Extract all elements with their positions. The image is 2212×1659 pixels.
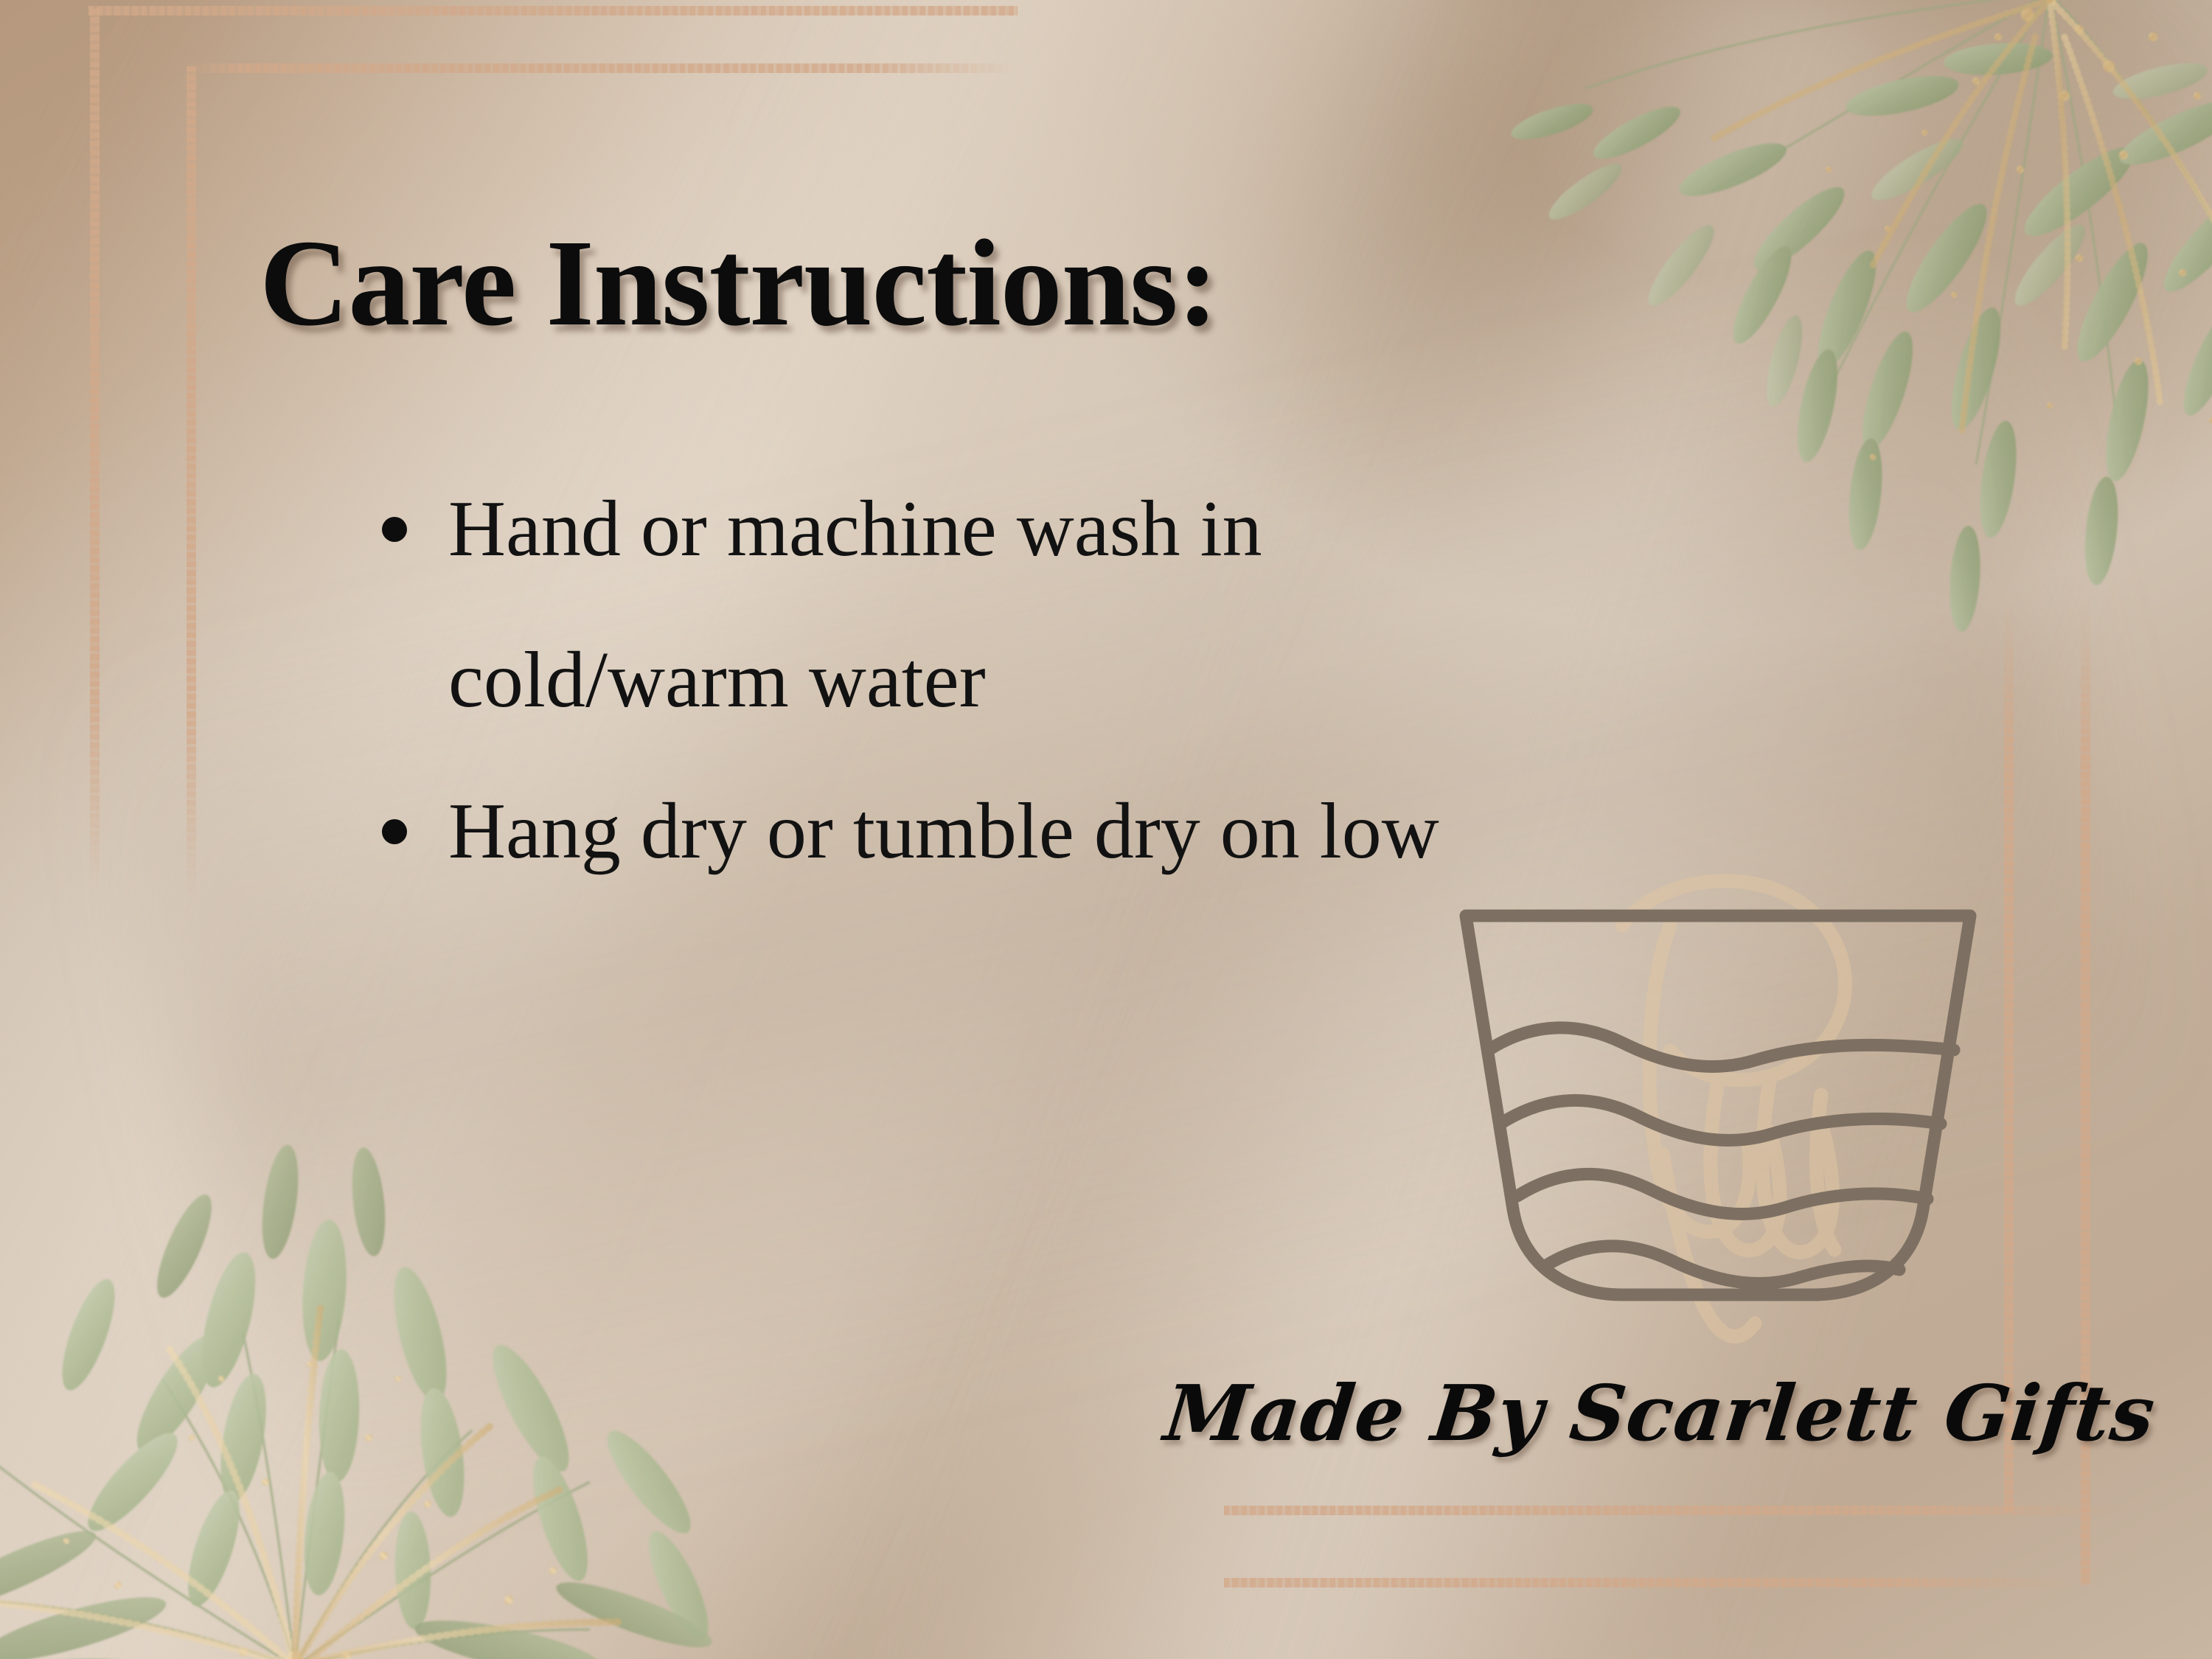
wash-basin-icon (1445, 863, 1991, 1335)
care-instructions-card: Care Instructions: Hand or machine wash … (0, 0, 2212, 1659)
page-title: Care Instructions: (260, 221, 1218, 345)
brand-logo (1445, 863, 1991, 1335)
frame-stroke-top-inner (184, 63, 1018, 73)
frame-stroke-bottom-outer (1224, 1578, 2079, 1587)
frame-stroke-left-outer (90, 9, 100, 894)
frame-stroke-top-outer (88, 6, 1018, 15)
list-item-text: Hand or machine wash in cold/warm water (448, 485, 1262, 724)
list-item-text: Hang dry or tumble dry on low (448, 787, 1439, 875)
care-instruction-list: Hand or machine wash in cold/warm water … (369, 453, 1622, 908)
list-item: Hang dry or tumble dry on low (369, 756, 1622, 907)
brand-signature: Made By Scarlett Gifts (1161, 1368, 2160, 1458)
bullet-dot-icon (382, 517, 407, 542)
list-item: Hand or machine wash in cold/warm water (369, 453, 1622, 756)
bullet-dot-icon (382, 819, 407, 844)
frame-stroke-bottom-inner (1224, 1506, 2131, 1515)
frame-stroke-left-inner (187, 66, 196, 900)
